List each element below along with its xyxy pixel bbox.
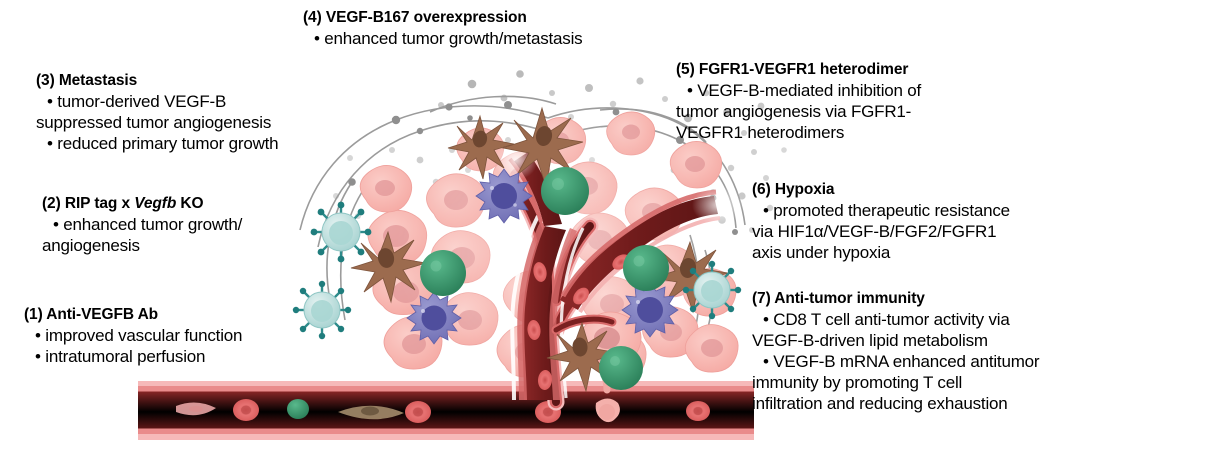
annotation-heading: (1) Anti-VEGFB Ab	[24, 305, 242, 325]
annotation-heading: (7) Anti-tumor immunity	[752, 289, 1039, 309]
annotation-heading: (5) FGFR1-VEGFR1 heterodimer	[676, 60, 921, 80]
figure-canvas: (4) VEGF-B167 overexpression • enhanced …	[0, 0, 1230, 457]
annotation-bullets: • VEGF-B-mediated inhibition of tumor an…	[676, 80, 921, 143]
annotation-bullets: • CD8 T cell anti-tumor activity via VEG…	[752, 309, 1039, 414]
annotation-bullets: • enhanced tumor growth/metastasis	[303, 28, 582, 49]
bullet-item: infiltration and reducing exhaustion	[752, 393, 1039, 414]
annotation-bullets: • promoted therapeutic resistance via HI…	[752, 200, 1010, 263]
annotation-fgfr1-vegfr1-heterodimer: (5) FGFR1-VEGFR1 heterodimer • VEGF-B-me…	[676, 60, 921, 143]
annotation-bullets: • tumor-derived VEGF-B suppressed tumor …	[36, 91, 278, 154]
annotation-bullets: • enhanced tumor growth/ angiogenesis	[42, 214, 242, 256]
bullet-item: via HIF1α/VEGF-B/FGF2/FGFR1	[752, 221, 1010, 242]
annotation-heading: (2) RIP tag x Vegfb KO	[42, 194, 242, 214]
bullet-item: • enhanced tumor growth/metastasis	[303, 28, 582, 49]
bullet-item: • tumor-derived VEGF-B	[36, 91, 278, 112]
heading-suffix: KO	[176, 195, 203, 212]
bullet-item: VEGFR1 heterodimers	[676, 122, 921, 143]
heading-italic-gene: Vegfb	[134, 195, 176, 212]
bullet-item: tumor angiogenesis via FGFR1-	[676, 101, 921, 122]
bullet-item: angiogenesis	[42, 235, 242, 256]
horizontal-blood-vessel	[138, 381, 754, 440]
bullet-item: • VEGF-B mRNA enhanced antitumor	[752, 351, 1039, 372]
bullet-item: suppressed tumor angiogenesis	[36, 112, 278, 133]
bullet-item: VEGF-B-driven lipid metabolism	[752, 330, 1039, 351]
annotation-heading: (6) Hypoxia	[752, 180, 1010, 200]
annotation-anti-tumor-immunity: (7) Anti-tumor immunity • CD8 T cell ant…	[752, 289, 1039, 414]
annotation-anti-vegfb-ab: (1) Anti-VEGFB Ab • improved vascular fu…	[24, 305, 242, 367]
bullet-item: • reduced primary tumor growth	[36, 133, 278, 154]
circulating-t-cell	[287, 399, 309, 419]
annotation-metastasis: (3) Metastasis • tumor-derived VEGF-B su…	[36, 71, 278, 154]
heading-prefix: (2) RIP tag x	[42, 195, 134, 212]
annotation-vegf-b167-overexpression: (4) VEGF-B167 overexpression • enhanced …	[303, 8, 582, 49]
bullet-item: • intratumoral perfusion	[24, 346, 242, 367]
bullet-item: • enhanced tumor growth/	[42, 214, 242, 235]
annotation-hypoxia: (6) Hypoxia • promoted therapeutic resis…	[752, 180, 1010, 263]
annotation-heading: (3) Metastasis	[36, 71, 278, 91]
annotation-heading: (4) VEGF-B167 overexpression	[303, 8, 582, 28]
bullet-item: immunity by promoting T cell	[752, 372, 1039, 393]
bullet-item: axis under hypoxia	[752, 242, 1010, 263]
bullet-item: • promoted therapeutic resistance	[752, 200, 1010, 221]
annotation-bullets: • improved vascular function • intratumo…	[24, 325, 242, 367]
bullet-item: • CD8 T cell anti-tumor activity via	[752, 309, 1039, 330]
bullet-item: • improved vascular function	[24, 325, 242, 346]
bullet-item: • VEGF-B-mediated inhibition of	[676, 80, 921, 101]
annotation-rip-tag-vegfb-ko: (2) RIP tag x Vegfb KO • enhanced tumor …	[42, 194, 242, 256]
